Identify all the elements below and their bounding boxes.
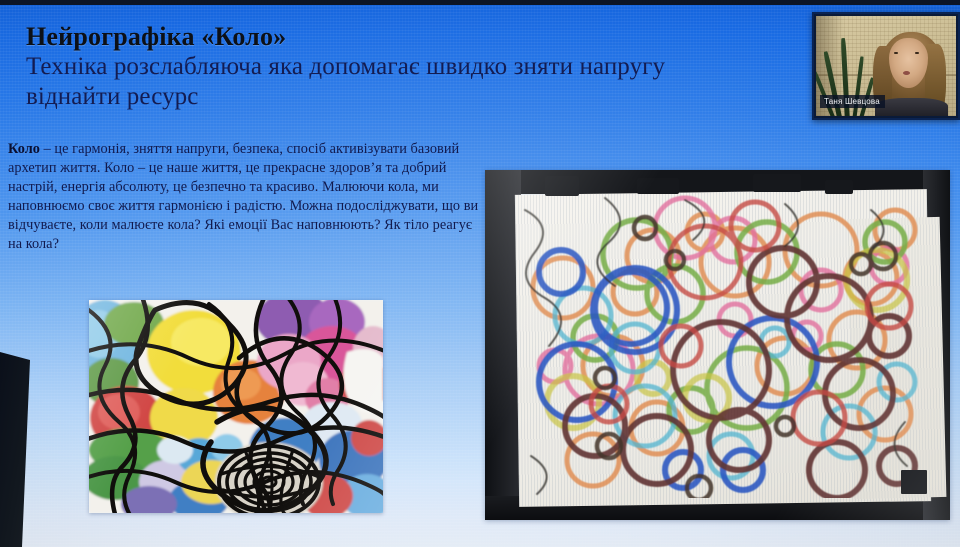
slide-title-line-3: віднайти ресурс xyxy=(26,82,856,112)
neurographic-artwork-filled xyxy=(89,300,383,513)
slide-title-block: Нейрографіка «Коло» Техніка розслабляюча… xyxy=(26,22,856,111)
presenter-mouth xyxy=(903,71,910,75)
participant-name-label: Таня Шевцова xyxy=(820,95,885,108)
artwork-filled-svg xyxy=(89,300,383,513)
screen-capture-root: Нейрографіка «Коло» Техніка розслабляюча… xyxy=(0,0,960,547)
monitor-bezel-top xyxy=(0,0,960,5)
artwork-circles-svg xyxy=(485,170,950,520)
slide-body-lead-word: Коло xyxy=(8,141,40,157)
webcam-tile-tanya-shevtsova[interactable]: Таня Шевцова xyxy=(812,12,960,120)
slide-body-rest: – це гармонія, зняття напруги, безпека, … xyxy=(8,141,478,252)
neurographic-artwork-circles xyxy=(485,170,950,520)
slide-title-line-2: Техніка розслабляюча яка допомагає швидк… xyxy=(26,52,856,82)
webcam-video-feed: Таня Шевцова xyxy=(816,16,956,116)
slide-title-line-1: Нейрографіка «Коло» xyxy=(26,22,856,51)
presenter-torso xyxy=(875,98,948,116)
slide-body-paragraph: Коло – це гармонія, зняття напруги, безп… xyxy=(8,140,488,254)
